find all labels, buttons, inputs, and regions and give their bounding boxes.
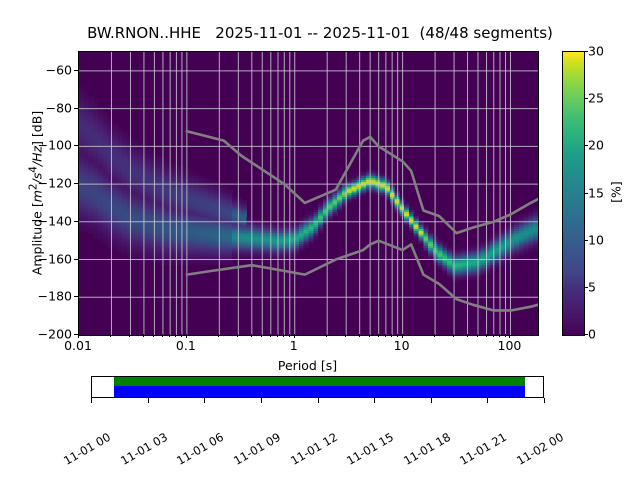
x-tick-mark (261, 334, 262, 337)
x-tick-mark (453, 334, 454, 337)
x-tick-mark (162, 334, 163, 337)
x-tick-mark (493, 334, 494, 337)
x-tick-mark (153, 334, 154, 337)
timeline-tick-label: 11-01 15 (344, 430, 396, 468)
data-coverage-blue-bar (114, 386, 525, 397)
y-tick-label: −60 (46, 62, 72, 77)
x-tick-mark (326, 334, 327, 337)
x-tick-mark (477, 334, 478, 337)
y-tick-label: −100 (38, 138, 72, 153)
x-tick-mark (385, 334, 386, 337)
timeline-tick-mark (318, 398, 319, 403)
x-tick-mark (434, 334, 435, 337)
timeline-tick-label: 11-01 03 (118, 430, 170, 468)
timeline-tick-label: 11-02 00 (514, 430, 566, 468)
timeline-tick-label: 11-01 00 (61, 430, 113, 468)
y-tick-mark (74, 70, 78, 71)
colorbar-tick-mark (584, 334, 588, 335)
x-tick-mark (218, 334, 219, 337)
timeline-tick-mark (431, 398, 432, 403)
timeline-tick-mark (261, 398, 262, 403)
y-tick-label: −80 (46, 100, 72, 115)
colorbar-tick-label: 0 (588, 327, 596, 342)
x-tick-label: 10 (394, 338, 410, 353)
x-tick-mark (499, 334, 500, 337)
y-axis: Amplitude [m2/s4/Hz] [dB] (78, 51, 537, 334)
timeline-tick-label: 11-01 12 (288, 430, 340, 468)
x-tick-label: 100 (498, 338, 522, 353)
colorbar-tick-mark (584, 98, 588, 99)
x-tick-mark (143, 334, 144, 337)
x-tick-mark (505, 334, 506, 337)
ppsd-figure: BW.RNON..HHE 2025-11-01 -- 2025-11-01 (4… (0, 0, 640, 480)
x-tick-mark (397, 334, 398, 337)
x-tick-mark (467, 334, 468, 337)
x-tick-mark (129, 334, 130, 337)
timeline-tick-mark (374, 398, 375, 403)
y-tick-mark (74, 183, 78, 184)
x-tick-mark (486, 334, 487, 337)
y-tick-mark (74, 296, 78, 297)
colorbar-tick-mark (584, 193, 588, 194)
timeline-tick-mark (148, 398, 149, 403)
x-tick-mark (359, 334, 360, 337)
colorbar-tick-label: 20 (588, 138, 604, 153)
x-tick-label: 0.1 (176, 338, 196, 353)
data-coverage-green-bar (114, 377, 525, 386)
page-title: BW.RNON..HHE 2025-11-01 -- 2025-11-01 (4… (0, 24, 640, 42)
colorbar-tick-mark (584, 145, 588, 146)
x-tick-mark (110, 334, 111, 337)
x-tick-mark (378, 334, 379, 337)
x-tick-mark (345, 334, 346, 337)
x-tick-mark (251, 334, 252, 337)
timeline-tick-mark (91, 398, 92, 403)
y-tick-mark (74, 145, 78, 146)
x-axis-label: Period [s] (78, 358, 537, 373)
colorbar-tick-label: 25 (588, 91, 604, 106)
x-tick-label: 0.01 (64, 338, 92, 353)
timeline-tick-label: 11-01 18 (401, 430, 453, 468)
timeline-tick-label: 11-01 21 (458, 430, 510, 468)
colorbar-label: [%] (609, 181, 624, 203)
timeline-tick-mark (204, 398, 205, 403)
x-tick-mark (237, 334, 238, 337)
timeline-tick-label: 11-01 09 (231, 430, 283, 468)
x-tick-label: 1 (290, 338, 298, 353)
y-tick-mark (74, 108, 78, 109)
x-tick-mark (270, 334, 271, 337)
timeline-tick-mark (544, 398, 545, 403)
x-tick-mark (169, 334, 170, 337)
colorbar-tick-label: 10 (588, 232, 604, 247)
x-tick-mark (175, 334, 176, 337)
y-tick-label: −180 (38, 289, 72, 304)
colorbar-tick-mark (584, 51, 588, 52)
colorbar-tick-label: 5 (588, 279, 596, 294)
colorbar-tick-mark (584, 287, 588, 288)
timeline-tick-mark (487, 398, 488, 403)
x-tick-mark (277, 334, 278, 337)
colorbar-tick-label: 30 (588, 44, 604, 59)
y-tick-label: −160 (38, 251, 72, 266)
y-tick-mark (74, 259, 78, 260)
x-tick-mark (391, 334, 392, 337)
x-tick-mark (181, 334, 182, 337)
y-axis-label: Amplitude [m2/s4/Hz] [dB] (27, 110, 44, 274)
y-tick-label: −120 (38, 176, 72, 191)
data-coverage-timeline (91, 376, 544, 398)
y-tick-mark (74, 221, 78, 222)
x-tick-mark (283, 334, 284, 337)
x-tick-mark (369, 334, 370, 337)
timeline-tick-label: 11-01 06 (174, 430, 226, 468)
colorbar-tick-mark (584, 240, 588, 241)
colorbar (562, 51, 585, 336)
colorbar-tick-label: 15 (588, 185, 604, 200)
y-tick-label: −140 (38, 213, 72, 228)
x-tick-mark (289, 334, 290, 337)
